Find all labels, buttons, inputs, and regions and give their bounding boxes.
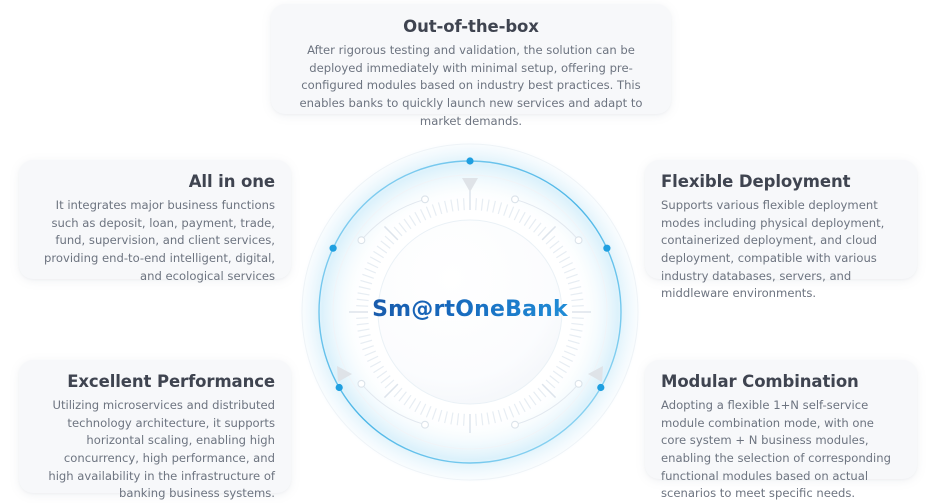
feature-card-body: It integrates major business functions s… xyxy=(35,197,275,285)
arc-endpoint-circle-s1 xyxy=(422,421,429,428)
feature-card-body: Utilizing microservices and distributed … xyxy=(35,397,275,503)
node-dot-upper-left xyxy=(330,245,337,252)
feature-card-title: Flexible Deployment xyxy=(661,171,901,193)
central-hub-graphic: Sm@rtOneBank xyxy=(295,137,645,487)
arc-endpoint-circle-s2 xyxy=(512,421,519,428)
feature-card-out-of-the-box[interactable]: Out-of-the-box After rigorous testing an… xyxy=(271,4,671,114)
feature-card-flexible-deployment[interactable]: Flexible Deployment Supports various fle… xyxy=(645,160,917,279)
arc-endpoint-circle-w xyxy=(358,380,365,387)
infographic-stage: Sm@rtOneBank Out-of-the-box After rigoro… xyxy=(0,0,941,500)
feature-card-title: Out-of-the-box xyxy=(287,16,655,38)
feature-card-modular-combination[interactable]: Modular Combination Adopting a flexible … xyxy=(645,360,917,479)
feature-card-body: Supports various flexible deployment mod… xyxy=(661,197,901,303)
node-dot-upper-right xyxy=(603,245,610,252)
node-dot-top xyxy=(466,157,473,164)
arc-endpoint-circle-n2 xyxy=(512,196,519,203)
node-dot-lower-left xyxy=(336,384,343,391)
arc-endpoint-circle-se xyxy=(575,380,582,387)
feature-card-title: Excellent Performance xyxy=(35,371,275,393)
arc-endpoint-circle-ne xyxy=(575,237,582,244)
arc-endpoint-circle-n1 xyxy=(422,196,429,203)
feature-card-excellent-performance[interactable]: Excellent Performance Utilizing microser… xyxy=(19,360,291,493)
feature-card-title: Modular Combination xyxy=(661,371,901,393)
node-dot-lower-right xyxy=(597,384,604,391)
hub-core-disc xyxy=(378,220,562,404)
feature-card-title: All in one xyxy=(35,171,275,193)
feature-card-body: After rigorous testing and validation, t… xyxy=(287,42,655,130)
feature-card-all-in-one[interactable]: All in one It integrates major business … xyxy=(19,160,291,279)
feature-card-body: Adopting a flexible 1+N self-service mod… xyxy=(661,397,901,503)
